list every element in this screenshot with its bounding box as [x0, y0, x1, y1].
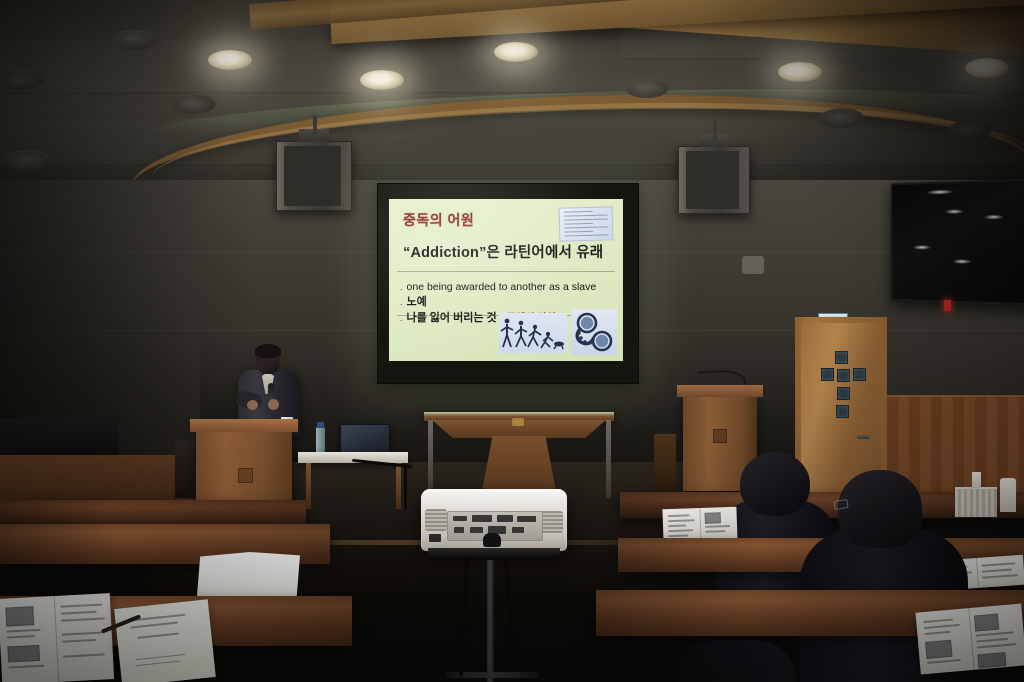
handcuffs-image: [571, 309, 617, 355]
presenter-hair: [255, 344, 281, 358]
booklet: [114, 599, 216, 682]
projector: [421, 489, 567, 551]
bullet-text: one being awarded to another as a slave: [407, 281, 597, 293]
door-window: [836, 405, 849, 418]
door-handle[interactable]: [857, 435, 870, 439]
door-window: [821, 368, 834, 381]
slide-bullet: . 노예: [400, 296, 616, 309]
slide-title: 중독의 어원: [403, 210, 474, 230]
evolution-walk-figures-image: [499, 313, 567, 353]
downlight-lit: [494, 42, 538, 62]
door-window: [837, 387, 850, 400]
power-socket: [429, 534, 441, 542]
chair-right: [654, 434, 676, 492]
document-thumbnail-image: [559, 206, 614, 241]
pew-row-left-far: [0, 500, 306, 526]
wall-mounted-light: [742, 256, 764, 274]
pulpit-emblem: [713, 429, 727, 443]
handcuffs-svg: [571, 309, 617, 355]
bottle-cap: [317, 422, 324, 428]
projector-stand: [487, 560, 494, 682]
door-window: [837, 369, 850, 382]
door-window: [853, 368, 866, 381]
bullet-marker: .: [400, 282, 403, 292]
presenter-hand: [268, 399, 279, 410]
lecture-hall-photo: 중독의 어원 “Addiction”은 라틴어에서 유래 . one being…: [0, 0, 1024, 682]
walking-figures-svg: [499, 313, 567, 353]
cable: [404, 466, 407, 510]
presentation-slide: 중독의 어원 “Addiction”은 라틴어에서 유래 . one being…: [389, 199, 623, 361]
podium-emblem: [238, 468, 253, 483]
presenter-hand: [247, 400, 258, 410]
ceiling-speaker-left: [276, 141, 352, 211]
attendee-foreground: [676, 640, 796, 682]
ceiling-speaker-right: [678, 146, 750, 214]
door-window: [835, 351, 848, 364]
candle: [972, 472, 981, 488]
fire-alarm-indicator: [944, 300, 951, 311]
booklet: [0, 593, 114, 682]
attendee-front-right-head: [838, 470, 922, 548]
slide-subtitle: “Addiction”은 라틴어에서 유래: [403, 241, 603, 262]
table-emblem: [512, 418, 524, 426]
decorative-box: [955, 487, 997, 517]
projection-screen: 중독의 어원 “Addiction”은 라틴어에서 유래 . one being…: [377, 183, 639, 384]
bullet-marker: .: [400, 297, 403, 307]
ceiling: [0, 0, 1024, 190]
power-cable-plug: [483, 533, 501, 547]
candle: [1000, 478, 1016, 512]
slide-bullet: . one being awarded to another as a slav…: [400, 281, 616, 293]
wall-mounted-tv: [891, 178, 1024, 306]
bullet-text: 나를 잃어 버리는 것: [407, 312, 497, 325]
booklet: [915, 603, 1024, 674]
downlight: [625, 78, 669, 98]
downlight-lit: [360, 70, 404, 90]
attendee-front-left-head: [740, 452, 810, 516]
water-bottle: [316, 427, 325, 454]
bullet-text: 노예: [407, 296, 427, 309]
projector-mount-plate: [428, 548, 560, 557]
